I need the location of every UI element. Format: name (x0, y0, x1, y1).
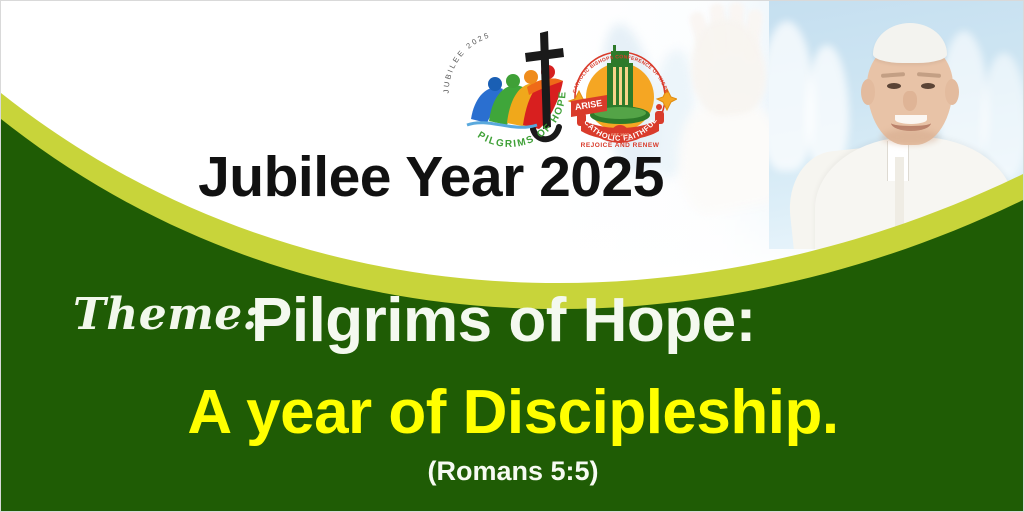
theme-line-1: Pilgrims of Hope: (251, 290, 756, 352)
svg-text:JUBILEE 2025: JUBILEE 2025 (442, 30, 492, 93)
jubilee-arc-top: JUBILEE 2025 (442, 30, 492, 93)
jubilee-2025-logo: JUBILEE 2025 PILGRIMS OF HOPE (441, 27, 571, 147)
cbcn-est: EST 1997 (611, 132, 629, 137)
jubilee-banner: JUBILEE 2025 PILGRIMS OF HOPE (0, 0, 1024, 512)
page-title: Jubilee Year 2025 (1, 149, 861, 206)
scripture-reference: (Romans 5:5) (1, 456, 1024, 487)
theme-label: Theme: (73, 289, 260, 340)
theme-line-2: A year of Discipleship. (1, 382, 1024, 444)
catholic-faithful-emblem: CATHOLIC BISHOPS CONFERENCE OF NIGERIA A… (563, 35, 677, 147)
